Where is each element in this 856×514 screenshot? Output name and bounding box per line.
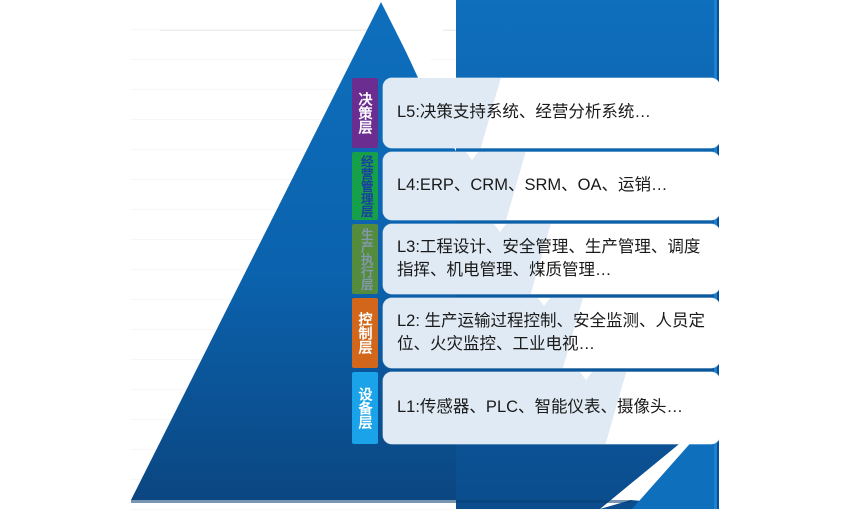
connector-chevron-l3 (538, 298, 550, 306)
layer-card-l2[interactable]: L2: 生产运输过程控制、安全监测、人员定位、火灾监控、工业电视… (383, 298, 720, 368)
connector-chevron-l4 (494, 224, 506, 232)
layer-row-l2[interactable]: 控制层 L2: 生产运输过程控制、安全监测、人员定位、火灾监控、工业电视… (352, 298, 720, 368)
layer-card-l1[interactable]: L1:传感器、PLC、智能仪表、摄像头… (383, 372, 720, 444)
layer-tab-l1[interactable]: 设备层 (352, 372, 378, 444)
layer-card-l5[interactable]: L5:决策支持系统、经营分析系统… (383, 78, 720, 148)
layer-tab-l3[interactable]: 生产执行层 (352, 224, 378, 294)
layer-row-l1[interactable]: 设备层 L1:传感器、PLC、智能仪表、摄像头… (352, 372, 720, 444)
layer-tab-label-l3: 生产执行层 (358, 228, 372, 291)
pyramid-base-shadow (131, 500, 631, 503)
layer-row-l3[interactable]: 生产执行层 L3:工程设计、安全管理、生产管理、调度指挥、机电管理、煤质管理… (352, 224, 720, 294)
layer-card-text-l5: L5:决策支持系统、经营分析系统… (397, 101, 651, 124)
layer-tab-label-l1: 设备层 (357, 387, 372, 429)
apex-white-notch (383, 0, 456, 82)
background-gridline-top (160, 30, 720, 31)
layer-card-text-l1: L1:传感器、PLC、智能仪表、摄像头… (397, 396, 683, 419)
layer-card-text-l4: L4:ERP、CRM、SRM、OA、运销… (397, 174, 667, 197)
layer-card-l4[interactable]: L4:ERP、CRM、SRM、OA、运销… (383, 152, 720, 220)
layer-row-l5[interactable]: 决策层 L5:决策支持系统、经营分析系统… (352, 78, 720, 148)
connector-chevron-l5 (466, 152, 478, 160)
apex-notch-fill (381, 0, 456, 2)
layer-tab-label-l4: 经营管理层 (358, 155, 372, 218)
layer-row-l4[interactable]: 经营管理层 L4:ERP、CRM、SRM、OA、运销… (352, 152, 720, 220)
layer-tab-l5[interactable]: 决策层 (352, 78, 378, 148)
layer-tab-label-l5: 决策层 (357, 92, 372, 134)
layer-tab-l2[interactable]: 控制层 (352, 298, 378, 368)
layer-tab-l4[interactable]: 经营管理层 (352, 152, 378, 220)
layer-card-l3[interactable]: L3:工程设计、安全管理、生产管理、调度指挥、机电管理、煤质管理… (383, 224, 720, 294)
layer-rows: 决策层 L5:决策支持系统、经营分析系统… 经营管理层 L4:ERP、CRM、S… (352, 78, 720, 448)
diagram-canvas: 决策层 L5:决策支持系统、经营分析系统… 经营管理层 L4:ERP、CRM、S… (0, 0, 856, 514)
layer-tab-label-l2: 控制层 (357, 312, 372, 354)
layer-card-text-l3: L3:工程设计、安全管理、生产管理、调度指挥、机电管理、煤质管理… (397, 236, 706, 283)
connector-chevron-l2 (580, 372, 592, 380)
layer-card-text-l2: L2: 生产运输过程控制、安全监测、人员定位、火灾监控、工业电视… (397, 310, 706, 357)
